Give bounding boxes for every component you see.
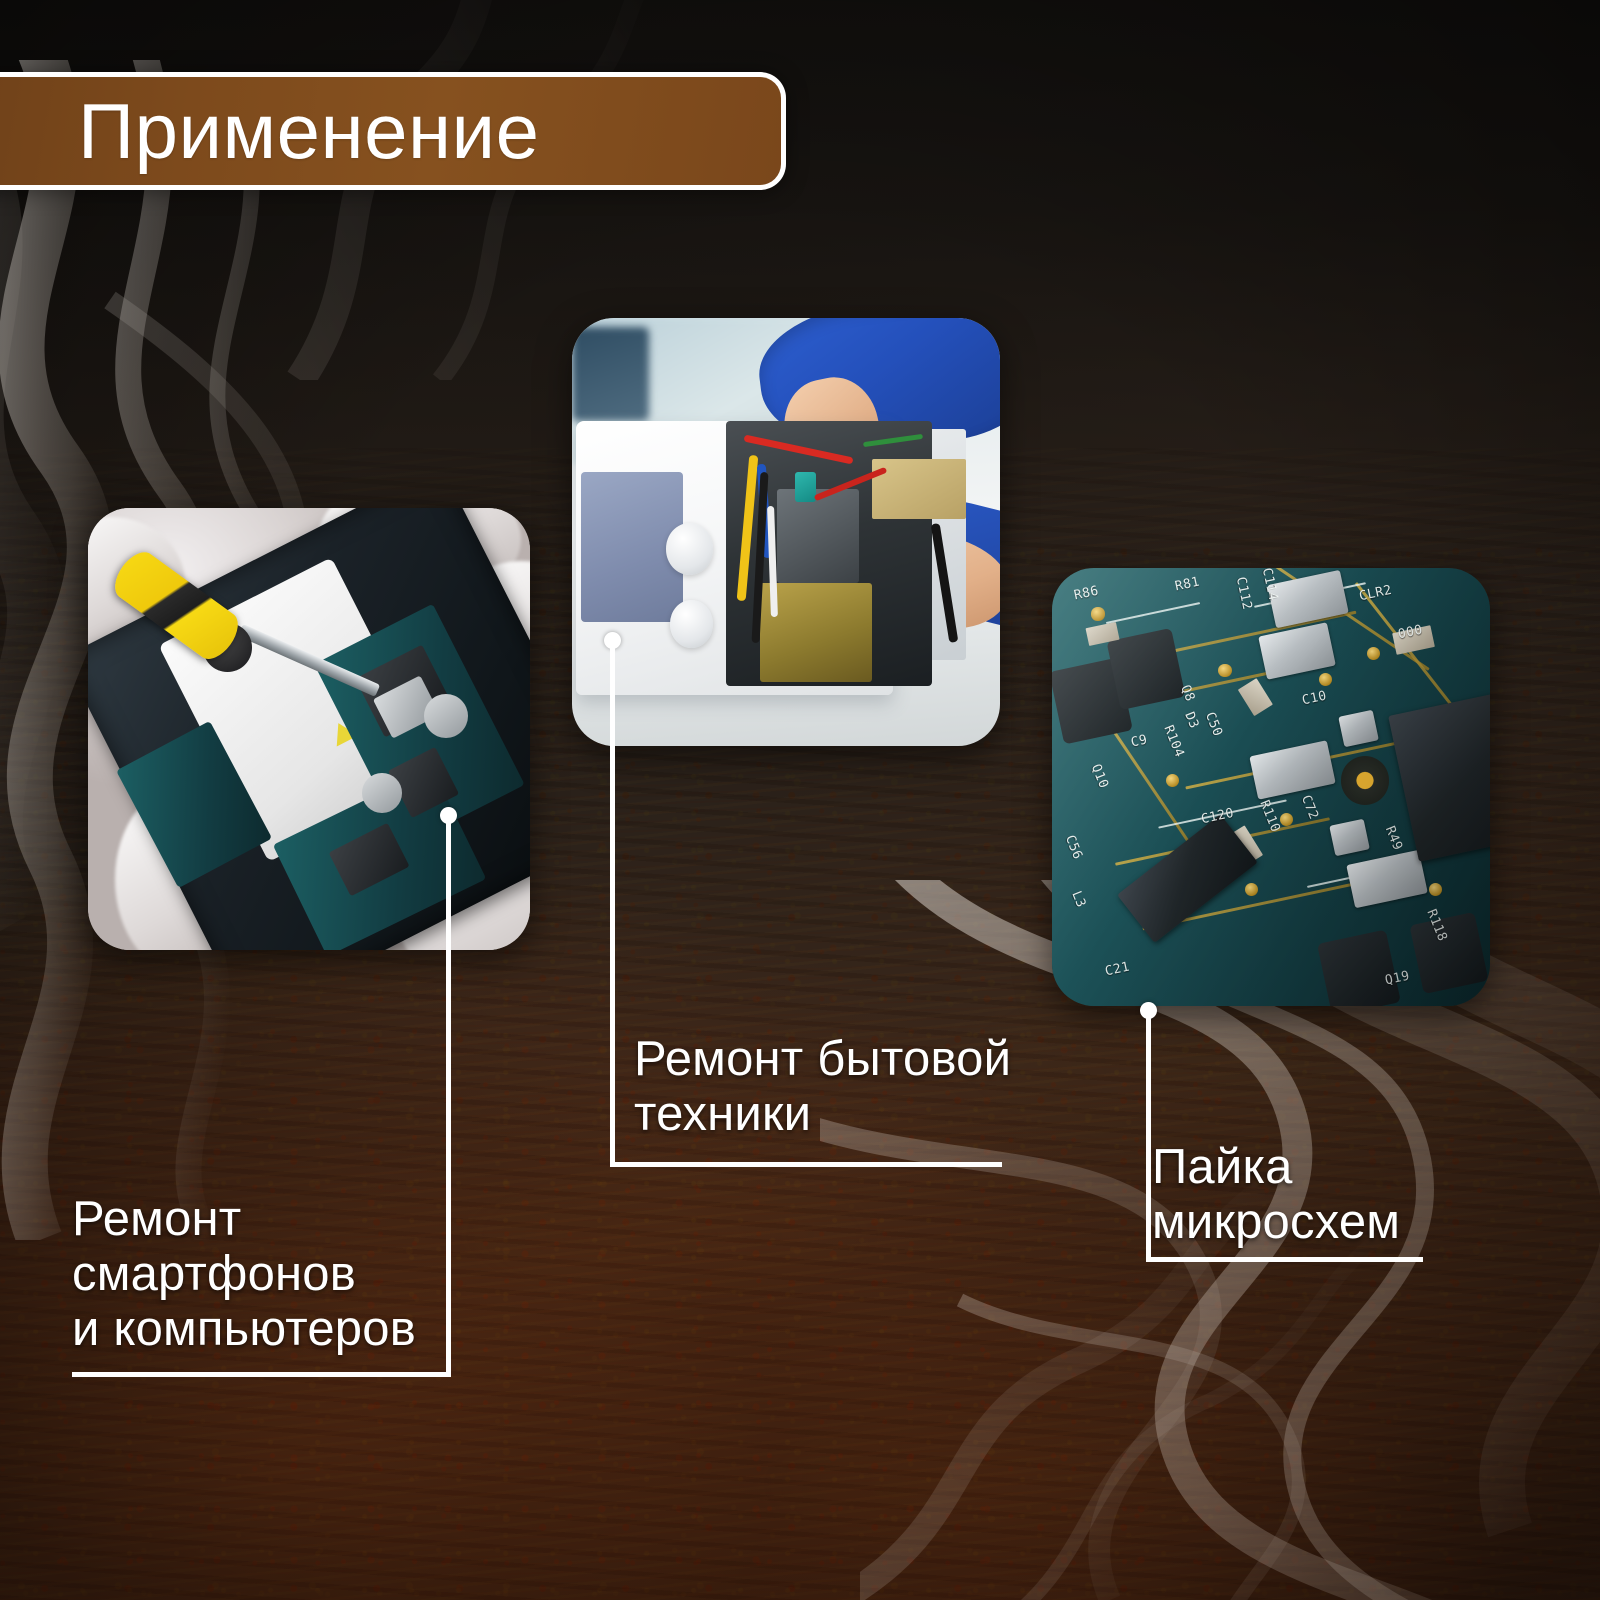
connector-vline-chip <box>1146 1010 1151 1262</box>
caption-chip-soldering: Пайка микросхем <box>1152 1140 1532 1250</box>
caption-line: Ремонт бытовой <box>634 1032 1034 1087</box>
caption-line: микросхем <box>1152 1195 1532 1250</box>
caption-line: техники <box>634 1087 1034 1142</box>
caption-appliance-repair: Ремонт бытовой техники <box>634 1032 1034 1142</box>
infographic-slide: Применение <box>0 0 1600 1600</box>
caption-line: Пайка <box>1152 1140 1532 1195</box>
caption-smartphone-repair: Ремонт смартфонов и компьютеров <box>72 1192 472 1357</box>
caption-line: смартфонов <box>72 1247 472 1302</box>
caption-line: и компьютеров <box>72 1302 472 1357</box>
connector-hline-chip <box>1146 1257 1423 1262</box>
connector-chip-soldering <box>0 0 1600 1600</box>
caption-line: Ремонт <box>72 1192 472 1247</box>
